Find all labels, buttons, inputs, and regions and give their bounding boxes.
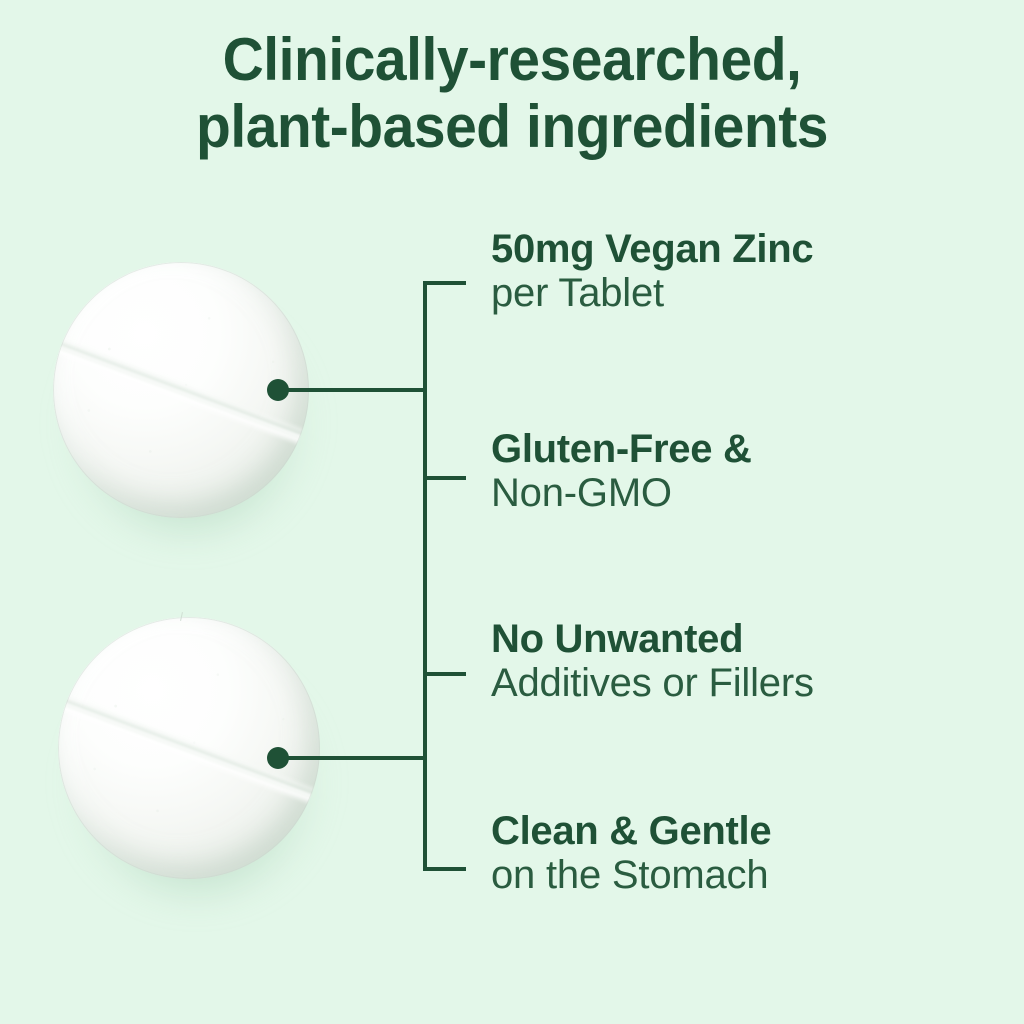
page-title-line-2: plant-based ingredients bbox=[26, 93, 999, 160]
callout-title: Clean & Gentle bbox=[491, 810, 771, 853]
callout-subtitle: Non-GMO bbox=[491, 471, 752, 516]
callout-title: Gluten-Free & bbox=[491, 428, 752, 471]
tablet-body bbox=[53, 262, 309, 518]
tablet-score-highlight bbox=[53, 330, 309, 454]
callout-gluten-free-non-gmo: Gluten-Free & Non-GMO bbox=[491, 428, 752, 516]
callout-subtitle: per Tablet bbox=[491, 271, 813, 316]
page-title: Clinically-researched, plant-based ingre… bbox=[0, 26, 1024, 160]
tablet-texture bbox=[58, 617, 320, 879]
callout-title: No Unwanted bbox=[491, 618, 814, 661]
callout-50mg-vegan-zinc: 50mg Vegan Zinc per Tablet bbox=[491, 228, 813, 316]
callout-clean-and-gentle: Clean & Gentle on the Stomach bbox=[491, 810, 771, 898]
product-infographic: Clinically-researched, plant-based ingre… bbox=[0, 0, 1024, 1024]
callout-subtitle: on the Stomach bbox=[491, 853, 771, 898]
page-title-line-1: Clinically-researched, bbox=[26, 26, 999, 93]
tablet-texture bbox=[53, 262, 309, 518]
tablet-score-line bbox=[58, 680, 320, 820]
tablet-score-line bbox=[53, 324, 309, 461]
zinc-tablet-bottom bbox=[58, 617, 320, 879]
callout-subtitle: Additives or Fillers bbox=[491, 661, 814, 706]
zinc-tablet-top bbox=[53, 262, 309, 518]
callout-title: 50mg Vegan Zinc bbox=[491, 228, 813, 271]
tablet-score-highlight bbox=[58, 686, 320, 813]
tablet-body bbox=[58, 617, 320, 879]
callout-no-unwanted-additives: No Unwanted Additives or Fillers bbox=[491, 618, 814, 706]
